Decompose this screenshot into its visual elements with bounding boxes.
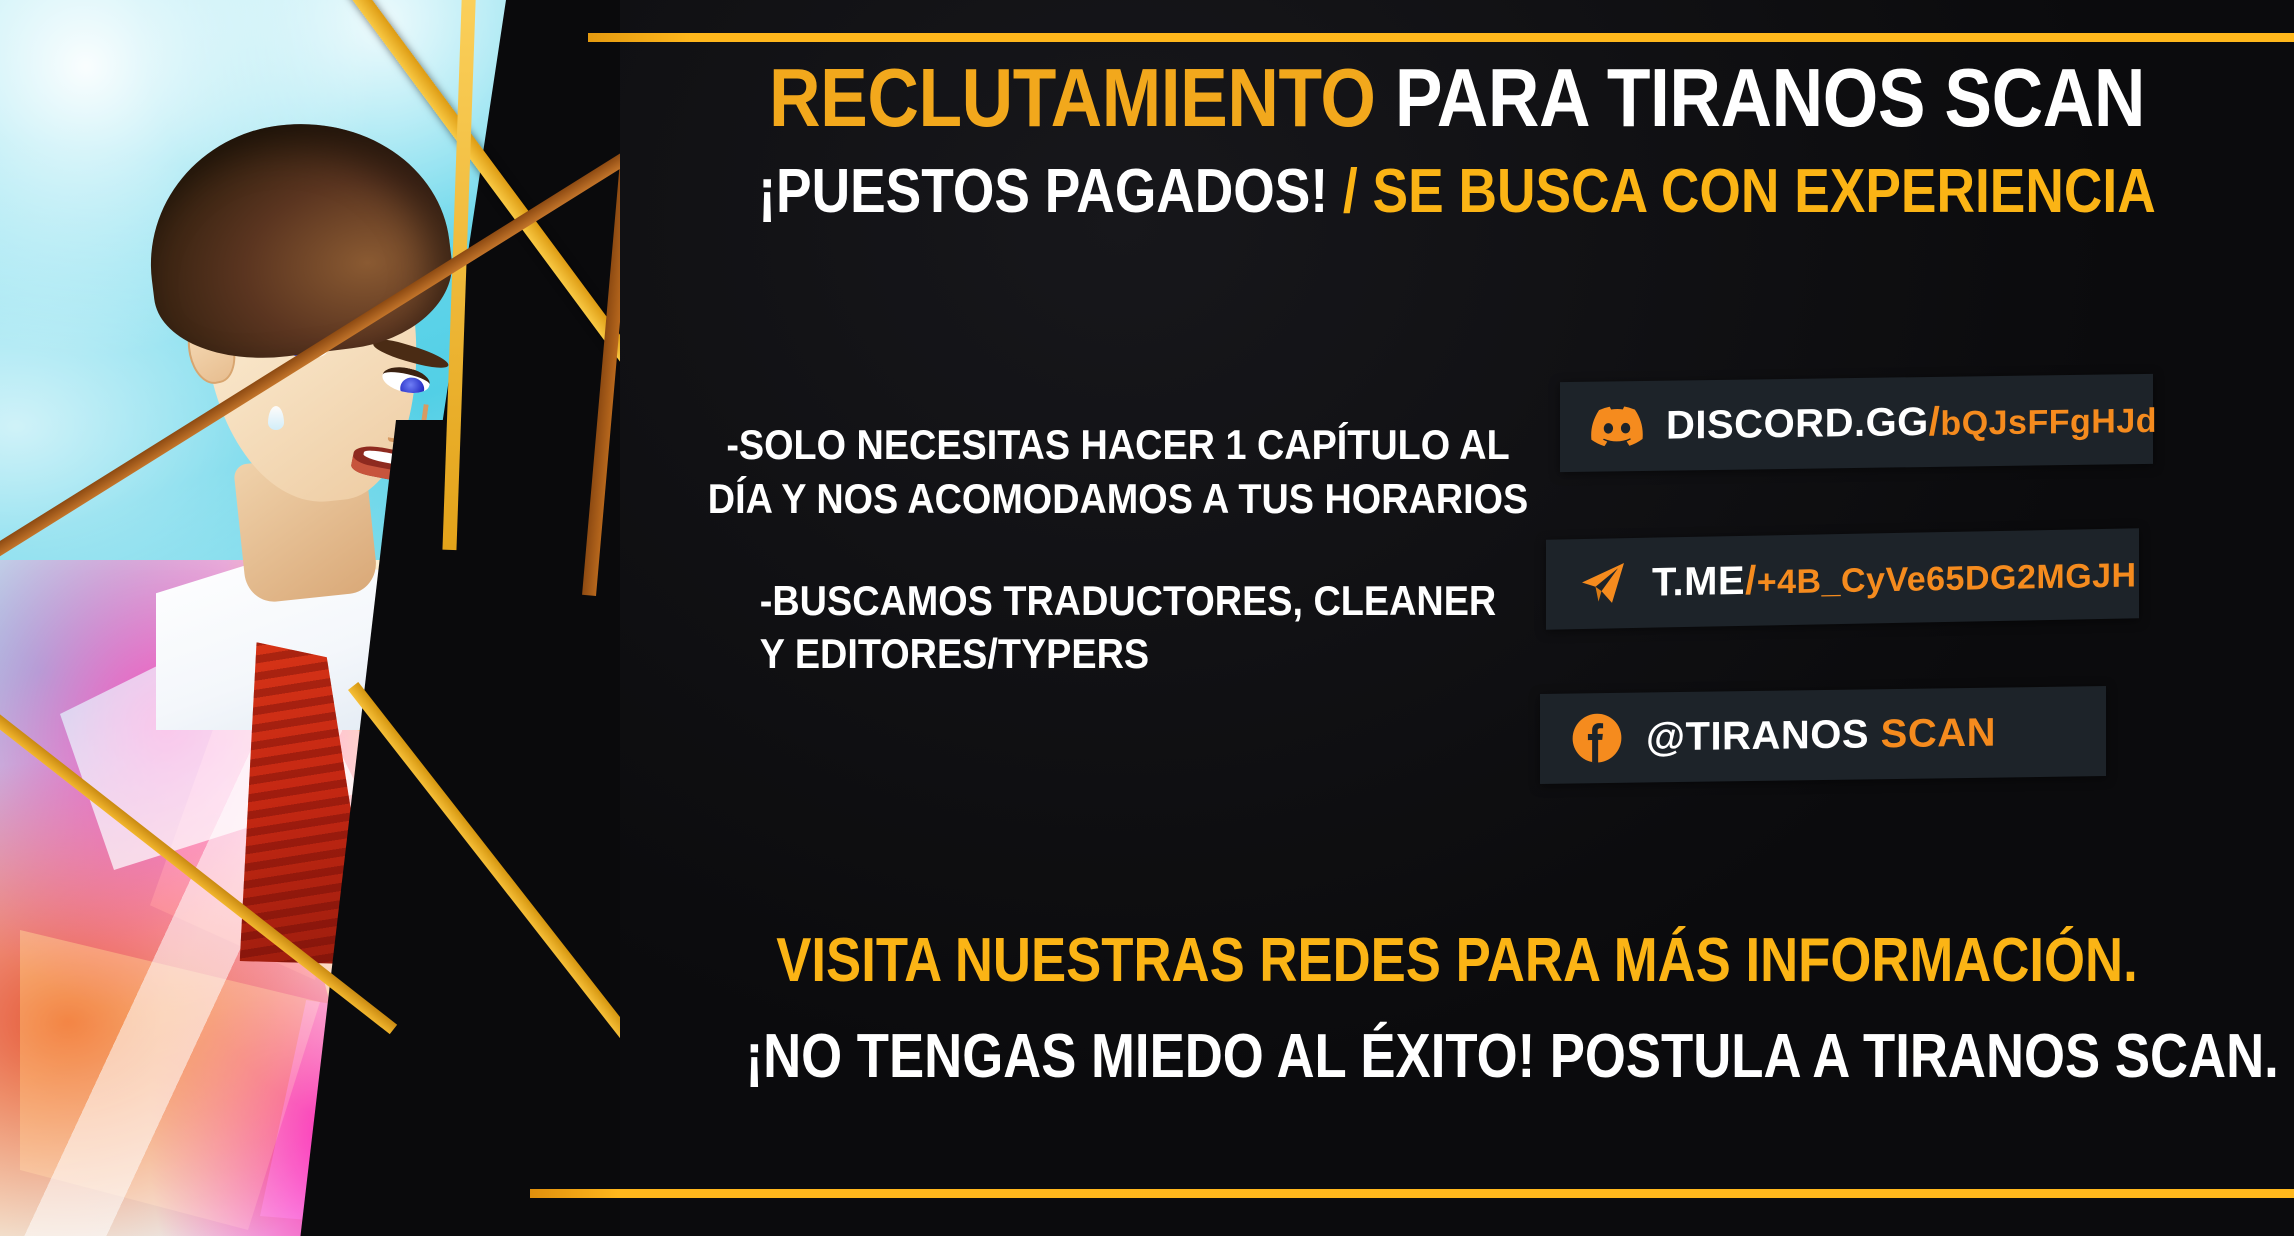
call-to-action: VISITA NUESTRAS REDES PARA MÁS INFORMACI…	[746, 930, 2169, 1088]
bullet-list: -SOLO NECESITAS HACER 1 CAPÍTULO AL DÍA …	[704, 418, 1532, 729]
discord-icon	[1590, 399, 1644, 454]
subtitle-white: ¡PUESTOS PAGADOS!	[758, 157, 1328, 226]
telegram-icon	[1576, 556, 1630, 611]
discord-prefix: DISCORD.GG	[1666, 399, 1929, 447]
contact-card-facebook[interactable]: @TIRANOS SCAN	[1540, 686, 2106, 784]
bullet-item: -SOLO NECESITAS HACER 1 CAPÍTULO AL DÍA …	[704, 418, 1532, 526]
bullet-line: Y EDITORES/TYPERS	[760, 627, 1532, 681]
contact-card-discord[interactable]: DISCORD.GG/bQJsFFgHJd	[1560, 374, 2153, 472]
discord-handle: bQJsFFgHJd	[1940, 401, 2157, 442]
facebook-icon	[1570, 711, 1624, 766]
telegram-separator: /	[1745, 558, 1757, 602]
gold-rule-top	[588, 33, 2294, 42]
facebook-separator	[1869, 712, 1881, 756]
subtitle: ¡PUESTOS PAGADOS! / SE BUSCA CON EXPERIE…	[737, 161, 2177, 223]
contact-card-text: @TIRANOS SCAN	[1646, 710, 1996, 760]
contact-card-list: DISCORD.GG/bQJsFFgHJd T.ME/+4B_CyVe65DG2…	[1560, 378, 2180, 846]
contact-card-text: DISCORD.GG/bQJsFFgHJd	[1666, 396, 2157, 448]
bullet-line: DÍA Y NOS ACOMODAMOS A TUS HORARIOS	[704, 472, 1532, 526]
facebook-handle: SCAN	[1881, 710, 1996, 756]
bullet-line: -BUSCAMOS TRADUCTORES, CLEANER	[760, 574, 1532, 628]
cta-line-primary: VISITA NUESTRAS REDES PARA MÁS INFORMACI…	[746, 930, 2169, 992]
bullet-line: -SOLO NECESITAS HACER 1 CAPÍTULO AL	[704, 418, 1532, 472]
page-title: RECLUTAMIENTO PARA TIRANOS SCAN	[737, 56, 2177, 139]
contact-card-telegram[interactable]: T.ME/+4B_CyVe65DG2MGJH	[1546, 528, 2139, 629]
headline-block: RECLUTAMIENTO PARA TIRANOS SCAN ¡PUESTOS…	[620, 56, 2294, 223]
headline-rest: PARA TIRANOS SCAN	[1395, 51, 2145, 144]
discord-separator: /	[1929, 399, 1941, 443]
facebook-prefix: @TIRANOS	[1646, 712, 1869, 759]
telegram-prefix: T.ME	[1652, 558, 1745, 604]
contact-card-text: T.ME/+4B_CyVe65DG2MGJH	[1652, 551, 2137, 605]
recruitment-poster: RECLUTAMIENTO PARA TIRANOS SCAN ¡PUESTOS…	[0, 0, 2294, 1236]
cta-line-secondary: ¡NO TENGAS MIEDO AL ÉXITO! POSTULA A TIR…	[746, 1026, 2169, 1088]
artwork-panel	[0, 0, 620, 1236]
subtitle-gold: / SE BUSCA CON EXPERIENCIA	[1343, 157, 2156, 226]
gold-rule-bottom	[530, 1189, 2294, 1198]
content-panel: RECLUTAMIENTO PARA TIRANOS SCAN ¡PUESTOS…	[620, 0, 2294, 1236]
telegram-handle: +4B_CyVe65DG2MGJH	[1757, 556, 2137, 601]
bullet-item: -BUSCAMOS TRADUCTORES, CLEANER Y EDITORE…	[704, 574, 1532, 682]
headline-highlight: RECLUTAMIENTO	[769, 51, 1375, 144]
